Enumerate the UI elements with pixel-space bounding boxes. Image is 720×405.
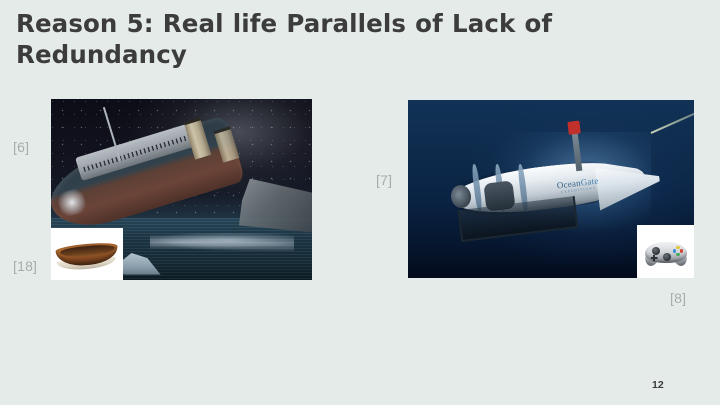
page-number: 12 xyxy=(652,379,664,391)
gamepad-icon xyxy=(645,238,687,266)
citation-marker-18: [18] xyxy=(13,258,37,274)
gamepad-right-stick xyxy=(663,253,671,261)
citation-marker-7: [7] xyxy=(376,172,392,188)
submersible-tether xyxy=(651,112,694,134)
water-foam xyxy=(150,233,294,251)
gamepad-button-b xyxy=(680,249,684,253)
slide-canvas: Reason 5: Real life Parallels of Lack of… xyxy=(0,0,720,405)
citation-marker-8: [8] xyxy=(670,290,686,306)
gamepad-button-x xyxy=(673,249,677,253)
lifeboat-image xyxy=(51,228,123,280)
citation-marker-6: [6] xyxy=(13,139,29,155)
gamepad-button-a xyxy=(676,253,680,257)
gamepad-face-buttons xyxy=(673,246,684,257)
page-title: Reason 5: Real life Parallels of Lack of… xyxy=(16,8,616,71)
submersible-equipment-pod xyxy=(484,180,516,212)
gamepad-button-y xyxy=(676,246,680,250)
game-controller-image xyxy=(637,225,694,278)
gamepad-left-stick xyxy=(652,247,660,255)
